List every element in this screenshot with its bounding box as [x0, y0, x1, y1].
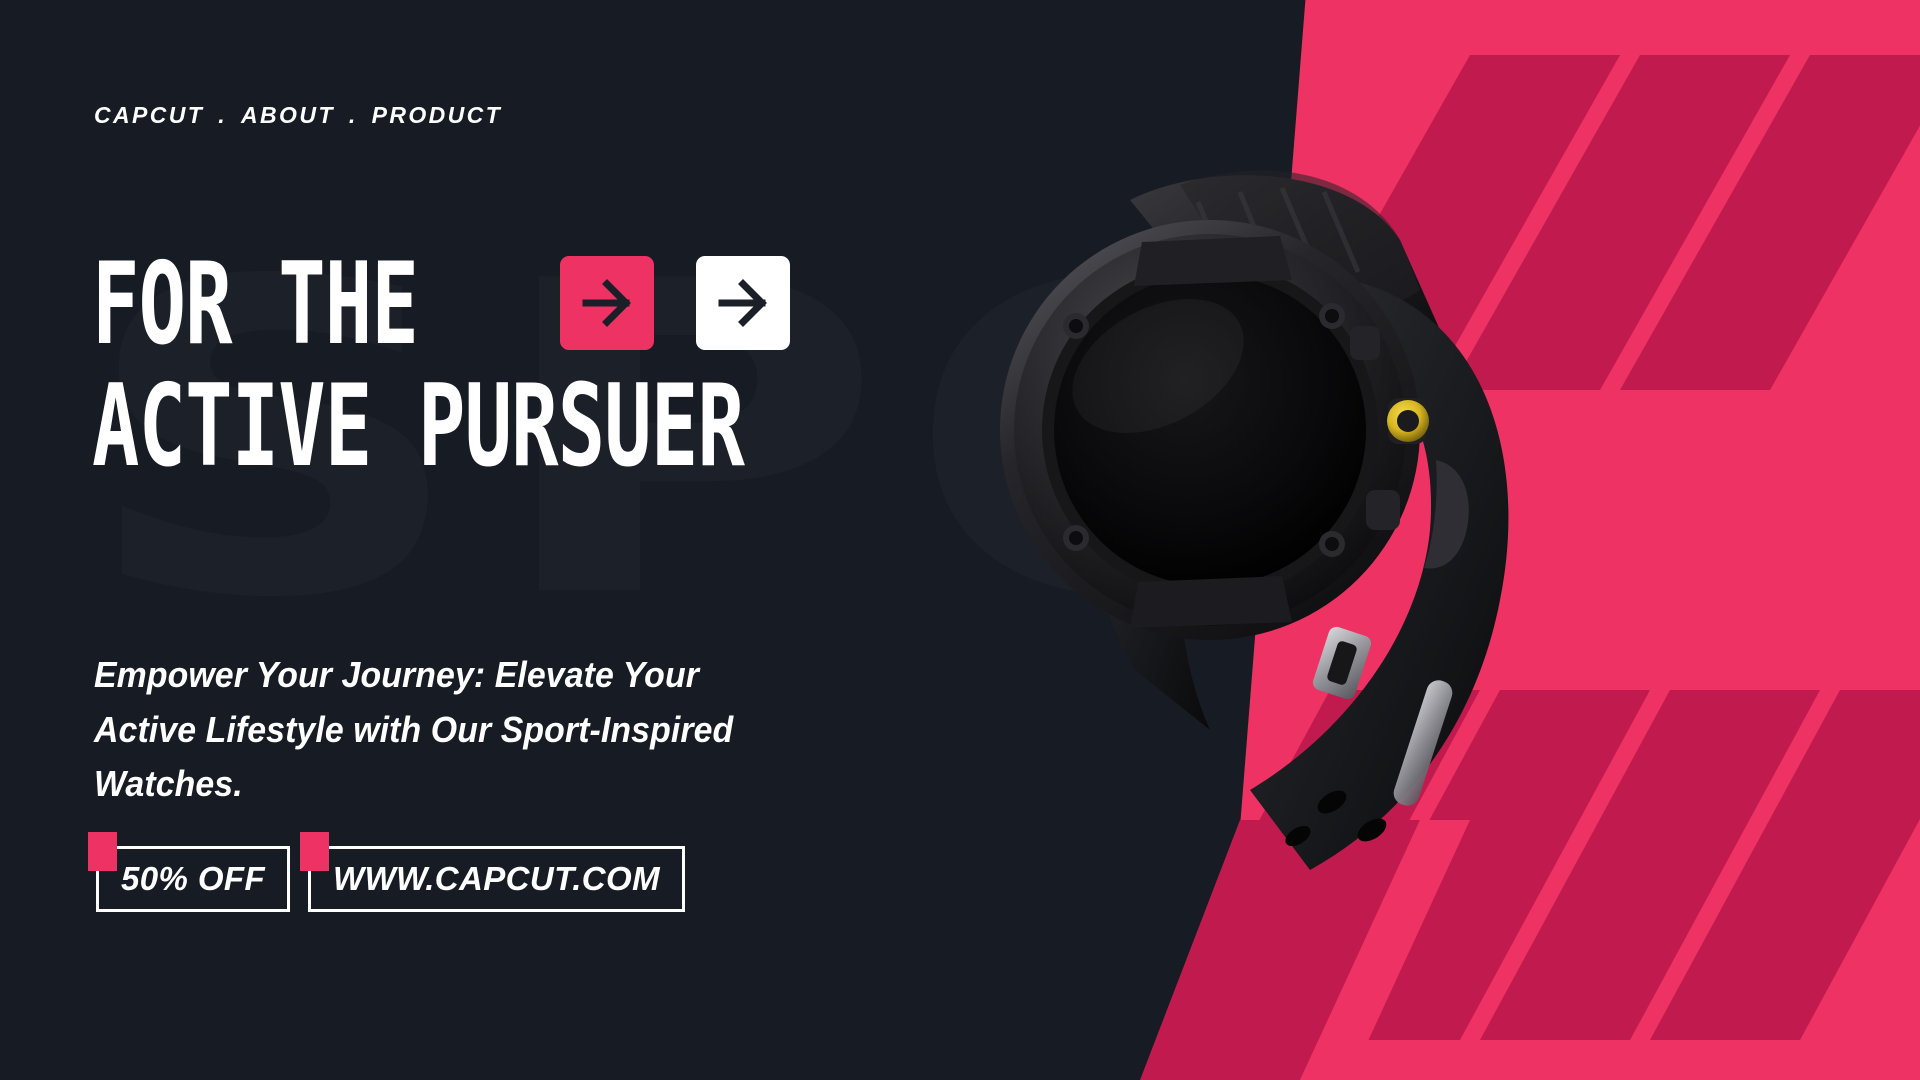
nav-item-capcut[interactable]: CAPCUT: [94, 102, 204, 129]
website-badge-label: WWW.CAPCUT.COM: [308, 846, 685, 912]
nav-item-product[interactable]: PRODUCT: [372, 102, 503, 129]
discount-badge-label: 50% OFF: [96, 846, 290, 912]
discount-badge[interactable]: 50% OFF: [96, 846, 290, 912]
arrow-right-icon: [580, 276, 634, 330]
badge-group: 50% OFF WWW.CAPCUT.COM: [96, 846, 685, 912]
badge-corner-accent: [88, 832, 117, 871]
website-badge[interactable]: WWW.CAPCUT.COM: [308, 846, 685, 912]
secondary-arrow-button[interactable]: [696, 256, 790, 350]
top-navigation: CAPCUT . ABOUT . PRODUCT: [94, 102, 502, 129]
headline-line-2: ACTIVE PURSUER: [92, 372, 830, 481]
nav-separator: .: [335, 102, 372, 129]
nav-item-about[interactable]: ABOUT: [241, 102, 335, 129]
headline-line-1: FOR THE: [92, 250, 418, 359]
promo-banner: SPO: [0, 0, 1920, 1080]
primary-arrow-button[interactable]: [560, 256, 654, 350]
subtitle-text: Empower Your Journey: Elevate Your Activ…: [94, 648, 808, 812]
nav-separator: .: [204, 102, 241, 129]
arrow-button-group: [560, 256, 790, 350]
headline-block: FOR THE ACTIV: [92, 250, 992, 464]
arrow-right-icon: [716, 276, 770, 330]
badge-corner-accent: [300, 832, 329, 871]
